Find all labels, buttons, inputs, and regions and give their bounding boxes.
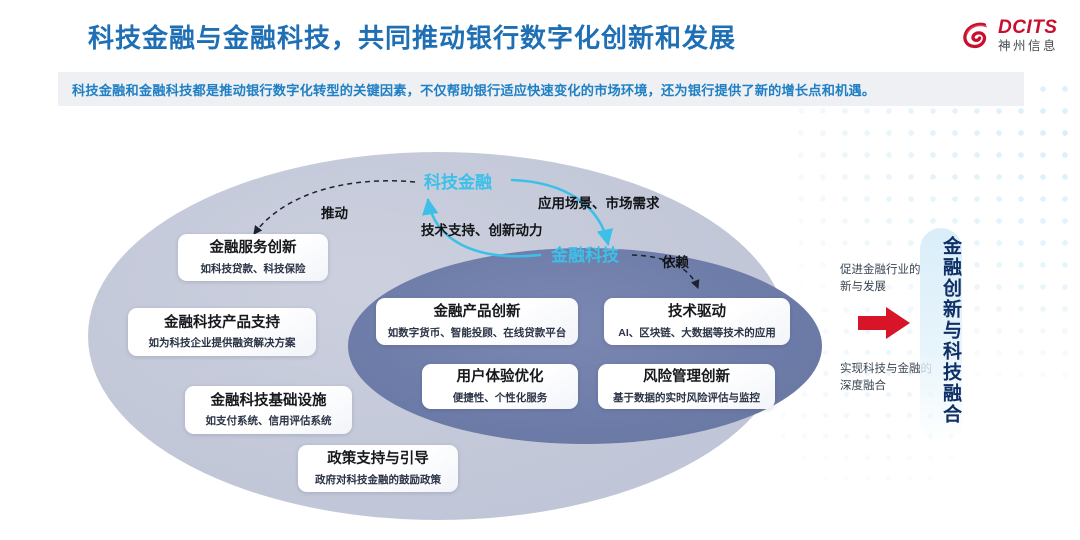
vertical-heading-integration: 金融创新与科技融合 xyxy=(922,236,960,425)
card-title: 金融服务创新 xyxy=(210,239,297,257)
card-fintech-infrastructure[interactable]: 金融科技基础设施 如支付系统、信用评估系统 xyxy=(185,386,352,434)
page-title: 科技金融与金融科技，共同推动银行数字化创新和发展 xyxy=(88,18,736,55)
card-title: 金融科技产品支持 xyxy=(164,314,280,332)
card-title: 风险管理创新 xyxy=(643,368,730,386)
red-right-arrow-icon xyxy=(856,305,912,341)
note-promote-innovation: 促进金融行业的创新与发展 xyxy=(840,262,932,295)
card-policy-support[interactable]: 政策支持与引导 政府对科技金融的鼓励政策 xyxy=(298,445,458,492)
card-risk-management-innovation[interactable]: 风险管理创新 基于数据的实时风险评估与监控 xyxy=(598,364,775,409)
brand-name-en: DCITS xyxy=(998,18,1058,37)
label-application-scenario: 应用场景、市场需求 xyxy=(538,192,660,212)
card-title: 技术驱动 xyxy=(668,303,726,321)
card-subtitle: 如支付系统、信用评估系统 xyxy=(206,413,332,428)
brand-logo-text: DCITS 神州信息 xyxy=(998,18,1058,53)
card-title: 金融科技基础设施 xyxy=(211,392,327,410)
card-fintech-product-support[interactable]: 金融科技产品支持 如为科技企业提供融资解决方案 xyxy=(128,308,316,356)
subtitle-bar: 科技金融和金融科技都是推动银行数字化转型的关键因素，不仅帮助银行适应快速变化的市… xyxy=(58,72,1024,106)
note-deep-integration: 实现科技与金融的深度融合 xyxy=(840,361,932,394)
label-fintech: 金融科技 xyxy=(551,241,619,266)
inner-ellipse-fintech xyxy=(348,248,822,444)
card-subtitle: 如科技贷款、科技保险 xyxy=(201,261,306,276)
card-title: 金融产品创新 xyxy=(434,303,521,321)
card-subtitle: 如为科技企业提供融资解决方案 xyxy=(149,335,296,350)
card-technology-driven[interactable]: 技术驱动 AI、区块链、大数据等技术的应用 xyxy=(604,298,790,345)
slide-canvas: 科技金融与金融科技，共同推动银行数字化创新和发展 DCITS 神州信息 科技金融… xyxy=(0,0,1080,540)
card-subtitle: 基于数据的实时风险评估与监控 xyxy=(613,390,760,405)
label-tech-finance: 科技金融 xyxy=(424,168,492,193)
label-tech-support: 技术支持、创新动力 xyxy=(421,219,543,239)
card-subtitle: 便捷性、个性化服务 xyxy=(453,390,548,405)
subtitle-text: 科技金融和金融科技都是推动银行数字化转型的关键因素，不仅帮助银行适应快速变化的市… xyxy=(58,80,875,99)
label-push: 推动 xyxy=(321,202,348,222)
card-subtitle: 政府对科技金融的鼓励政策 xyxy=(315,472,441,487)
card-financial-product-innovation[interactable]: 金融产品创新 如数字货币、智能投顾、在线贷款平台 xyxy=(376,298,578,345)
label-depend: 依赖 xyxy=(662,251,689,271)
dcits-emblem-icon xyxy=(961,20,991,50)
card-title: 用户体验优化 xyxy=(457,368,544,386)
card-subtitle: 如数字货币、智能投顾、在线贷款平台 xyxy=(388,325,567,340)
card-title: 政策支持与引导 xyxy=(327,450,429,468)
card-financial-service-innovation[interactable]: 金融服务创新 如科技贷款、科技保险 xyxy=(178,234,328,281)
card-subtitle: AI、区块链、大数据等技术的应用 xyxy=(618,325,776,340)
brand-name-cn: 神州信息 xyxy=(998,40,1058,53)
brand-logo: DCITS 神州信息 xyxy=(961,18,1058,53)
card-user-experience-optimization[interactable]: 用户体验优化 便捷性、个性化服务 xyxy=(422,364,578,409)
